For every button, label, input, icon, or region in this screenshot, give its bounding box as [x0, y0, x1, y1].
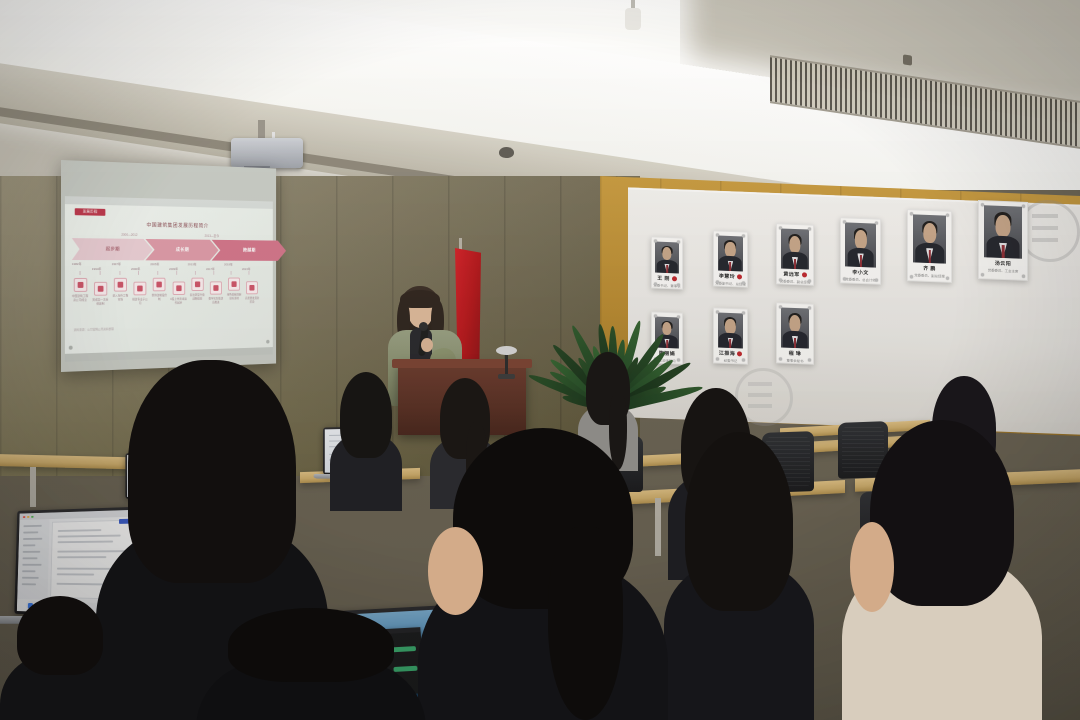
portrait-name: 李慧玲 — [719, 273, 742, 281]
company-logo-bar — [1032, 238, 1058, 242]
portrait-photo — [984, 205, 1021, 259]
presenter-hand — [421, 338, 433, 352]
microphone-head-icon — [419, 322, 428, 331]
sidebar-row — [23, 525, 41, 527]
company-logo-bar — [1032, 226, 1058, 230]
portrait-plaque: 江振海纪委书记 — [713, 307, 748, 364]
acrylic-standoff-icon — [716, 280, 719, 283]
audience-member-hair — [340, 372, 392, 458]
milestone-card-text: 绿色低碳双碳目标落地 — [226, 292, 242, 300]
portrait-tie — [794, 338, 796, 348]
acrylic-standoff-icon — [808, 306, 811, 309]
portrait-title: 党委委员、副总经理 — [780, 278, 811, 284]
acrylic-standoff-icon — [677, 358, 680, 361]
acrylic-standoff-icon — [742, 234, 745, 237]
portrait-name: 程 琳 — [789, 350, 802, 357]
milestone-card-text: 数字化智能建造推进 — [208, 296, 225, 304]
timeline-tick-label: 2013年 — [188, 261, 197, 266]
phase-label: 起步期 — [106, 246, 120, 252]
audience-member — [418, 428, 668, 720]
audience-member — [330, 372, 402, 510]
acrylic-standoff-icon — [946, 277, 949, 280]
acrylic-standoff-icon — [808, 227, 811, 230]
party-badge-icon — [672, 276, 677, 281]
security-camera-icon — [499, 147, 514, 158]
acrylic-standoff-icon — [779, 305, 782, 308]
sidebar-row — [23, 531, 38, 533]
acrylic-standoff-icon — [677, 315, 680, 318]
portrait-title: 党委委员、总会计师 — [845, 276, 876, 282]
milestone-card-text: 进入海外工程市场 — [111, 293, 129, 301]
ceiling-vent-nub — [903, 54, 912, 65]
doc-line — [58, 529, 102, 531]
acrylic-standoff-icon — [875, 222, 878, 225]
portrait-photo — [718, 236, 744, 272]
acrylic-standoff-icon — [910, 275, 913, 278]
sidebar-row — [23, 557, 38, 559]
portrait-name: 黄远军 — [783, 271, 806, 279]
gooseneck-microphone-head-icon — [496, 346, 517, 355]
audience-member-hair — [17, 596, 103, 675]
portrait-name: 王 刚 — [657, 275, 677, 283]
acrylic-standoff-icon — [716, 357, 719, 360]
podium-top-surface — [392, 359, 532, 368]
sidebar-row — [22, 583, 36, 585]
portrait-photo — [913, 214, 947, 263]
portrait-face — [662, 247, 671, 260]
timeline-tick-mark — [80, 271, 81, 275]
timeline-tick-mark — [213, 271, 214, 275]
gear-icon — [210, 281, 222, 294]
timeline-tick-label: 2000年 — [131, 266, 140, 271]
portrait-photo — [845, 222, 875, 267]
portrait-plaque: 李慧玲党委副书记、总经理 — [713, 230, 748, 287]
acrylic-standoff-icon — [716, 310, 719, 313]
acrylic-standoff-icon — [654, 283, 657, 286]
portrait-name: 汤云阳 — [995, 260, 1011, 268]
portrait-tie — [859, 255, 861, 266]
smoke-detector-icon — [625, 8, 641, 30]
portrait-tie — [1002, 245, 1005, 259]
portrait-face — [789, 236, 800, 253]
timeline-tick-mark — [176, 271, 177, 275]
ceiling-projector — [231, 138, 303, 168]
acrylic-standoff-icon — [779, 278, 782, 281]
portrait-plaque: 李小文党委委员、总会计师 — [840, 217, 881, 285]
portrait-photo — [781, 228, 809, 269]
phase-chevron: 成长期 — [145, 239, 218, 261]
acrylic-standoff-icon — [946, 214, 949, 217]
audience-member-ponytail — [548, 527, 623, 720]
slide-tag-badge: 发展历程 — [75, 208, 106, 216]
acrylic-standoff-icon — [716, 233, 719, 236]
portrait-face — [725, 319, 735, 334]
sidebar-row — [23, 551, 41, 553]
party-badge-icon — [737, 351, 742, 356]
acrylic-standoff-icon — [843, 220, 846, 223]
milestone-card-text: 整体改制股份制 — [151, 293, 168, 301]
portrait-plaque: 汤云阳党委委员、工会主席 — [978, 200, 1028, 281]
slide-tag-label: 发展历程 — [83, 209, 98, 214]
acrylic-standoff-icon — [779, 357, 782, 360]
audience-member — [842, 420, 1042, 720]
audience-member — [0, 596, 120, 720]
audience-member-hair — [685, 432, 793, 611]
milestone-card: 中国建筑工程总公司成立 — [71, 278, 89, 302]
timeline-tick-mark — [231, 271, 232, 275]
portrait-face — [996, 215, 1011, 237]
milestone-card: 提出转型升级战略规划 — [189, 278, 206, 301]
timeline-tick-mark — [195, 271, 196, 275]
award-icon — [172, 282, 185, 295]
acrylic-standoff-icon — [1022, 275, 1025, 278]
handshake-icon — [134, 282, 147, 296]
slide-milestone-cards: 中国建筑工程总公司成立完成第一次重组改制进入海外工程市场组建专业子公司整体改制股… — [71, 277, 262, 325]
sidebar-row — [22, 570, 35, 572]
audience-member — [664, 432, 814, 720]
sidebar-row — [22, 564, 41, 566]
acrylic-standoff-icon — [779, 226, 782, 229]
milestone-card-text: 提出转型升级战略规划 — [189, 293, 206, 301]
portrait-face — [725, 242, 735, 257]
portrait-tie — [794, 259, 796, 269]
company-logo-bar — [1032, 214, 1058, 218]
leaf-icon — [228, 278, 240, 291]
portrait-face — [789, 315, 800, 332]
timeline-tick-label: 2005年 — [150, 261, 159, 266]
portrait-plaque: 齐 鹏党委委员、副总经理 — [907, 209, 952, 283]
timeline-tick-mark — [249, 271, 250, 275]
timeline-tick-label: 2023年 — [242, 266, 250, 271]
sidebar-row — [23, 544, 35, 546]
phase-label: 成长期 — [176, 247, 189, 253]
portrait-plaque: 黄远军党委委员、副总经理 — [776, 223, 814, 285]
timeline-tick-mark — [99, 271, 100, 275]
timeline-tick-label: 2017年 — [206, 266, 215, 271]
portrait-photo — [718, 313, 744, 349]
milestone-card: 进入海外工程市场 — [111, 278, 129, 302]
portrait-face — [854, 230, 866, 249]
audience-member-hair — [228, 608, 394, 682]
sidebar-row — [22, 577, 39, 579]
milestone-card: 高质量发展新阶段 — [244, 281, 260, 304]
portrait-tie — [666, 265, 668, 273]
timeline-tick-label: 2019年 — [224, 262, 233, 267]
phase-chevron: 跨越期 — [212, 240, 286, 261]
doc-line — [57, 573, 94, 575]
portrait-title: 纪委书记 — [724, 358, 738, 364]
milestone-card-text: 组建专业子公司 — [131, 297, 149, 305]
acrylic-standoff-icon — [742, 358, 745, 361]
slide-phase-chevrons: 起步期 成长期 跨越期 — [72, 238, 260, 261]
portrait-photo — [655, 242, 678, 274]
slide-timeline-ticks: 1982年1994年1997年2000年2005年2009年2013年2017年… — [72, 261, 261, 277]
acrylic-standoff-icon — [677, 240, 680, 243]
portrait-name: 李小文 — [852, 268, 868, 276]
acrylic-standoff-icon — [742, 311, 745, 314]
portrait-tie — [730, 262, 732, 271]
milestone-card-text: 完成第一次重组改制 — [91, 298, 109, 306]
slide-footnote: 资料来源：公司官网公开资料整理 — [74, 327, 114, 332]
acrylic-standoff-icon — [677, 283, 680, 286]
acrylic-standoff-icon — [875, 279, 878, 282]
timeline-tick-mark — [138, 271, 139, 275]
ceiling — [0, 0, 1080, 190]
timeline-tick-label: 1994年 — [92, 266, 102, 271]
portrait-plaque: 程 琳董事会秘书 — [776, 302, 814, 364]
portrait-tie — [666, 340, 668, 348]
acrylic-standoff-icon — [742, 281, 745, 284]
slide-content: 发展历程 中国建筑集团发展历程简介 起步期 成长期 跨越期 2000—2012 … — [66, 206, 266, 336]
timeline-tick-mark — [157, 271, 158, 275]
milestone-card-text: 高质量发展新阶段 — [244, 296, 260, 304]
milestone-card-text: 中国建筑工程总公司成立 — [71, 294, 89, 302]
milestone-card: 整体改制股份制 — [151, 278, 168, 301]
portrait-tie — [730, 339, 732, 348]
milestone-card: 组建专业子公司 — [131, 282, 149, 306]
close-icon[interactable] — [23, 516, 25, 518]
phase-chevron: 起步期 — [72, 238, 153, 260]
globe-icon — [114, 278, 127, 292]
portrait-name: 齐 鹏 — [923, 264, 936, 271]
bulb-icon — [191, 278, 203, 291]
portrait-title: 党委委员、工会主席 — [988, 268, 1019, 274]
phase-note: 2000—2012 — [121, 233, 137, 237]
acrylic-standoff-icon — [910, 212, 913, 215]
timeline-tick-mark — [119, 271, 120, 275]
acrylic-standoff-icon — [843, 277, 846, 280]
audience-member-hair — [128, 360, 295, 583]
acrylic-standoff-icon — [981, 273, 984, 276]
acrylic-standoff-icon — [981, 203, 984, 206]
phase-label: 跨越期 — [243, 248, 256, 254]
company-logo-bar — [748, 382, 772, 386]
acrylic-standoff-icon — [1022, 205, 1025, 208]
portrait-name: 江振海 — [719, 350, 742, 358]
party-badge-icon — [737, 274, 742, 279]
acrylic-standoff-icon — [808, 279, 811, 282]
sidebar-row — [23, 538, 42, 540]
phase-note: 2013—至今 — [205, 233, 220, 238]
portrait-title: 党委委员、副总经理 — [914, 272, 945, 278]
milestone-card: A股上市资本运作起步 — [170, 282, 187, 305]
microphone-base — [498, 374, 515, 379]
slide-title: 中国建筑集团发展历程简介 — [123, 221, 230, 230]
maximize-icon[interactable] — [31, 515, 33, 517]
window-sidebar[interactable] — [17, 519, 50, 600]
conference-room-photo: 王 刚党委书记、董事长李慧玲党委副书记、总经理黄远军党委委员、副总经理李小文党委… — [0, 0, 1080, 720]
timeline-tick-label: 2009年 — [169, 266, 178, 271]
desk-leg — [30, 467, 36, 507]
chart-icon — [94, 282, 107, 296]
party-badge-icon — [802, 272, 807, 277]
timeline-tick-label: 1997年 — [112, 261, 121, 266]
timeline-tick-label: 1982年 — [72, 261, 82, 266]
acrylic-standoff-icon — [654, 240, 657, 243]
portrait-tie — [928, 250, 930, 262]
flag-icon — [153, 278, 166, 292]
portrait-title: 董事会秘书 — [787, 358, 804, 364]
audience-member-skin — [428, 527, 483, 615]
minimize-icon[interactable] — [27, 516, 29, 518]
portrait-plaque: 王 刚党委书记、董事长 — [651, 236, 683, 289]
milestone-card-text: A股上市资本运作起步 — [170, 297, 187, 305]
building-icon — [73, 278, 86, 292]
audience-member — [196, 608, 426, 720]
acrylic-standoff-icon — [808, 358, 811, 361]
milestone-card: 数字化智能建造推进 — [208, 281, 225, 304]
projector-mount — [258, 120, 265, 140]
rocket-icon — [246, 281, 258, 294]
milestone-card: 完成第一次重组改制 — [91, 282, 109, 306]
portrait-photo — [781, 307, 809, 348]
portrait-face — [923, 223, 936, 243]
audience-member-skin — [850, 522, 894, 612]
milestone-card: 绿色低碳双碳目标落地 — [226, 278, 242, 301]
